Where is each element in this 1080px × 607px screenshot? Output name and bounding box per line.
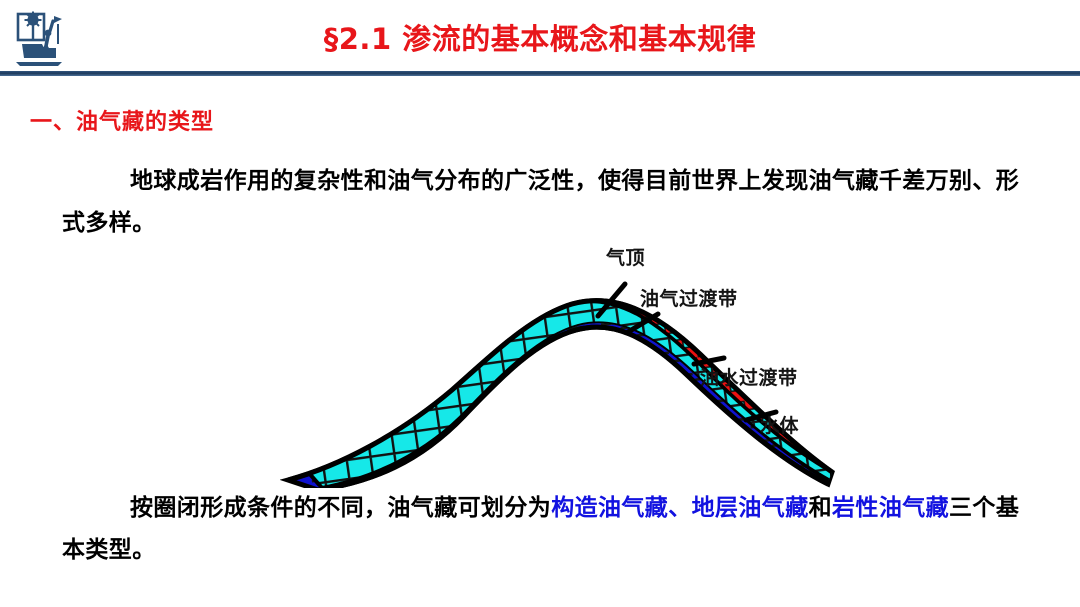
classification-separator-2: 和 [809, 495, 832, 521]
figure-label-oil-water-transition: 油水过渡带 [700, 363, 798, 390]
reservoir-type-structural: 构造油气藏 [551, 495, 668, 521]
classification-lead: 按圈闭形成条件的不同，油气藏可划分为 [130, 495, 551, 521]
page-title: §2.1 渗流的基本概念和基本规律 [0, 16, 1080, 58]
figure-label-water-body: 水体 [760, 411, 799, 438]
figure-label-gas-cap: 气顶 [606, 243, 645, 270]
reservoir-type-lithologic: 岩性油气藏 [832, 495, 949, 521]
classification-paragraph: 按圈闭形成条件的不同，油气藏可划分为构造油气藏、地层油气藏和岩性油气藏三个基本类… [62, 487, 1022, 571]
classification-separator-1: 、 [668, 495, 691, 521]
title-divider [0, 71, 1080, 76]
slide-header: §2.1 渗流的基本概念和基本规律 [0, 0, 1080, 78]
figure-label-gas-oil-transition: 油气过渡带 [640, 284, 738, 311]
reservoir-type-stratigraphic: 地层油气藏 [692, 495, 809, 521]
intro-paragraph: 地球成岩作用的复杂性和油气分布的广泛性，使得目前世界上发现油气藏千差万别、形式多… [62, 160, 1022, 244]
section-heading: 一、油气藏的类型 [30, 104, 214, 136]
